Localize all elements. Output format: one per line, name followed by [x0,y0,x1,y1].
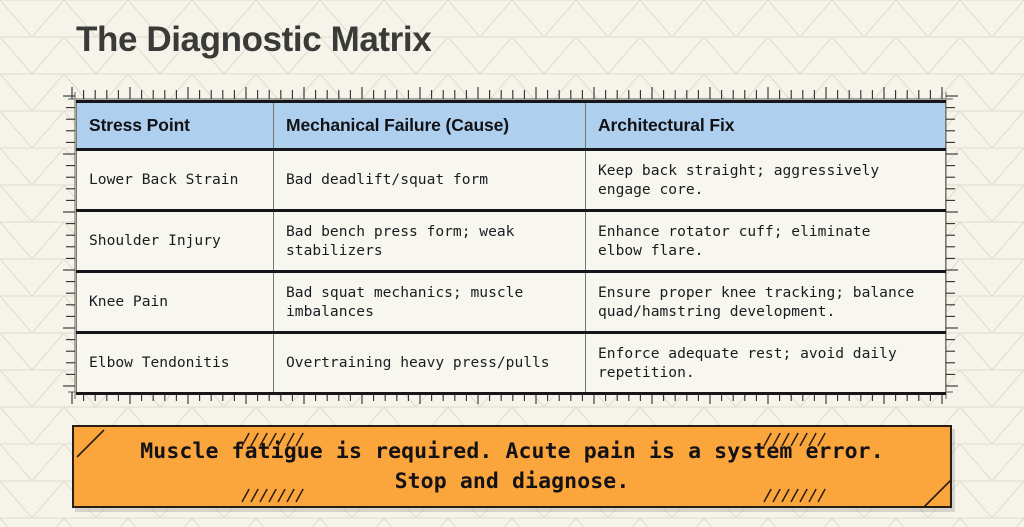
table-row: Knee Pain Bad squat mechanics; muscle im… [77,272,946,333]
ruler-ticks-right [945,92,961,399]
ruler-ticks-left [60,92,76,399]
cell-text: Bad bench press form; weak stabilizers [286,222,573,261]
cell-stress-point: Lower Back Strain [77,150,274,211]
column-header-stress-point: Stress Point [77,102,274,150]
table-header-row: Stress Point Mechanical Failure (Cause) … [77,102,946,150]
cell-mechanical-failure: Overtraining heavy press/pulls [274,333,586,394]
diagnostic-matrix-table: Stress Point Mechanical Failure (Cause) … [76,100,946,395]
cell-text: Knee Pain [89,292,261,311]
page-title: The Diagnostic Matrix [76,20,431,60]
cell-text: Bad squat mechanics; muscle imbalances [286,283,573,322]
cell-text: Ensure proper knee tracking; balance qua… [598,283,946,322]
cell-text: Enforce adequate rest; avoid daily repet… [598,344,946,383]
cell-mechanical-failure: Bad deadlift/squat form [274,150,586,211]
cell-stress-point: Shoulder Injury [77,211,274,272]
column-header-architectural-fix: Architectural Fix [586,102,946,150]
diagnostic-matrix-block: Stress Point Mechanical Failure (Cause) … [76,100,945,391]
callout-banner: Muscle fatigue is required. Acute pain i… [72,425,952,508]
cell-text: Keep back straight; aggressively engage … [598,161,946,200]
cell-text: Enhance rotator cuff; eliminate elbow fl… [598,222,946,261]
table-row: Shoulder Injury Bad bench press form; we… [77,211,946,272]
cell-text: Overtraining heavy press/pulls [286,353,573,372]
cell-text: Shoulder Injury [89,231,261,250]
cell-text: Elbow Tendonitis [89,353,261,372]
table-row: Lower Back Strain Bad deadlift/squat for… [77,150,946,211]
cell-text: Lower Back Strain [89,170,261,189]
table-row: Elbow Tendonitis Overtraining heavy pres… [77,333,946,394]
ruler-ticks-top [68,84,953,100]
cell-stress-point: Knee Pain [77,272,274,333]
cell-mechanical-failure: Bad bench press form; weak stabilizers [274,211,586,272]
cell-text: Bad deadlift/squat form [286,170,573,189]
cell-mechanical-failure: Bad squat mechanics; muscle imbalances [274,272,586,333]
cell-architectural-fix: Enhance rotator cuff; eliminate elbow fl… [586,211,946,272]
cell-architectural-fix: Keep back straight; aggressively engage … [586,150,946,211]
callout-text: Muscle fatigue is required. Acute pain i… [74,427,950,506]
cell-architectural-fix: Enforce adequate rest; avoid daily repet… [586,333,946,394]
column-header-mechanical-failure: Mechanical Failure (Cause) [274,102,586,150]
cell-stress-point: Elbow Tendonitis [77,333,274,394]
cell-architectural-fix: Ensure proper knee tracking; balance qua… [586,272,946,333]
